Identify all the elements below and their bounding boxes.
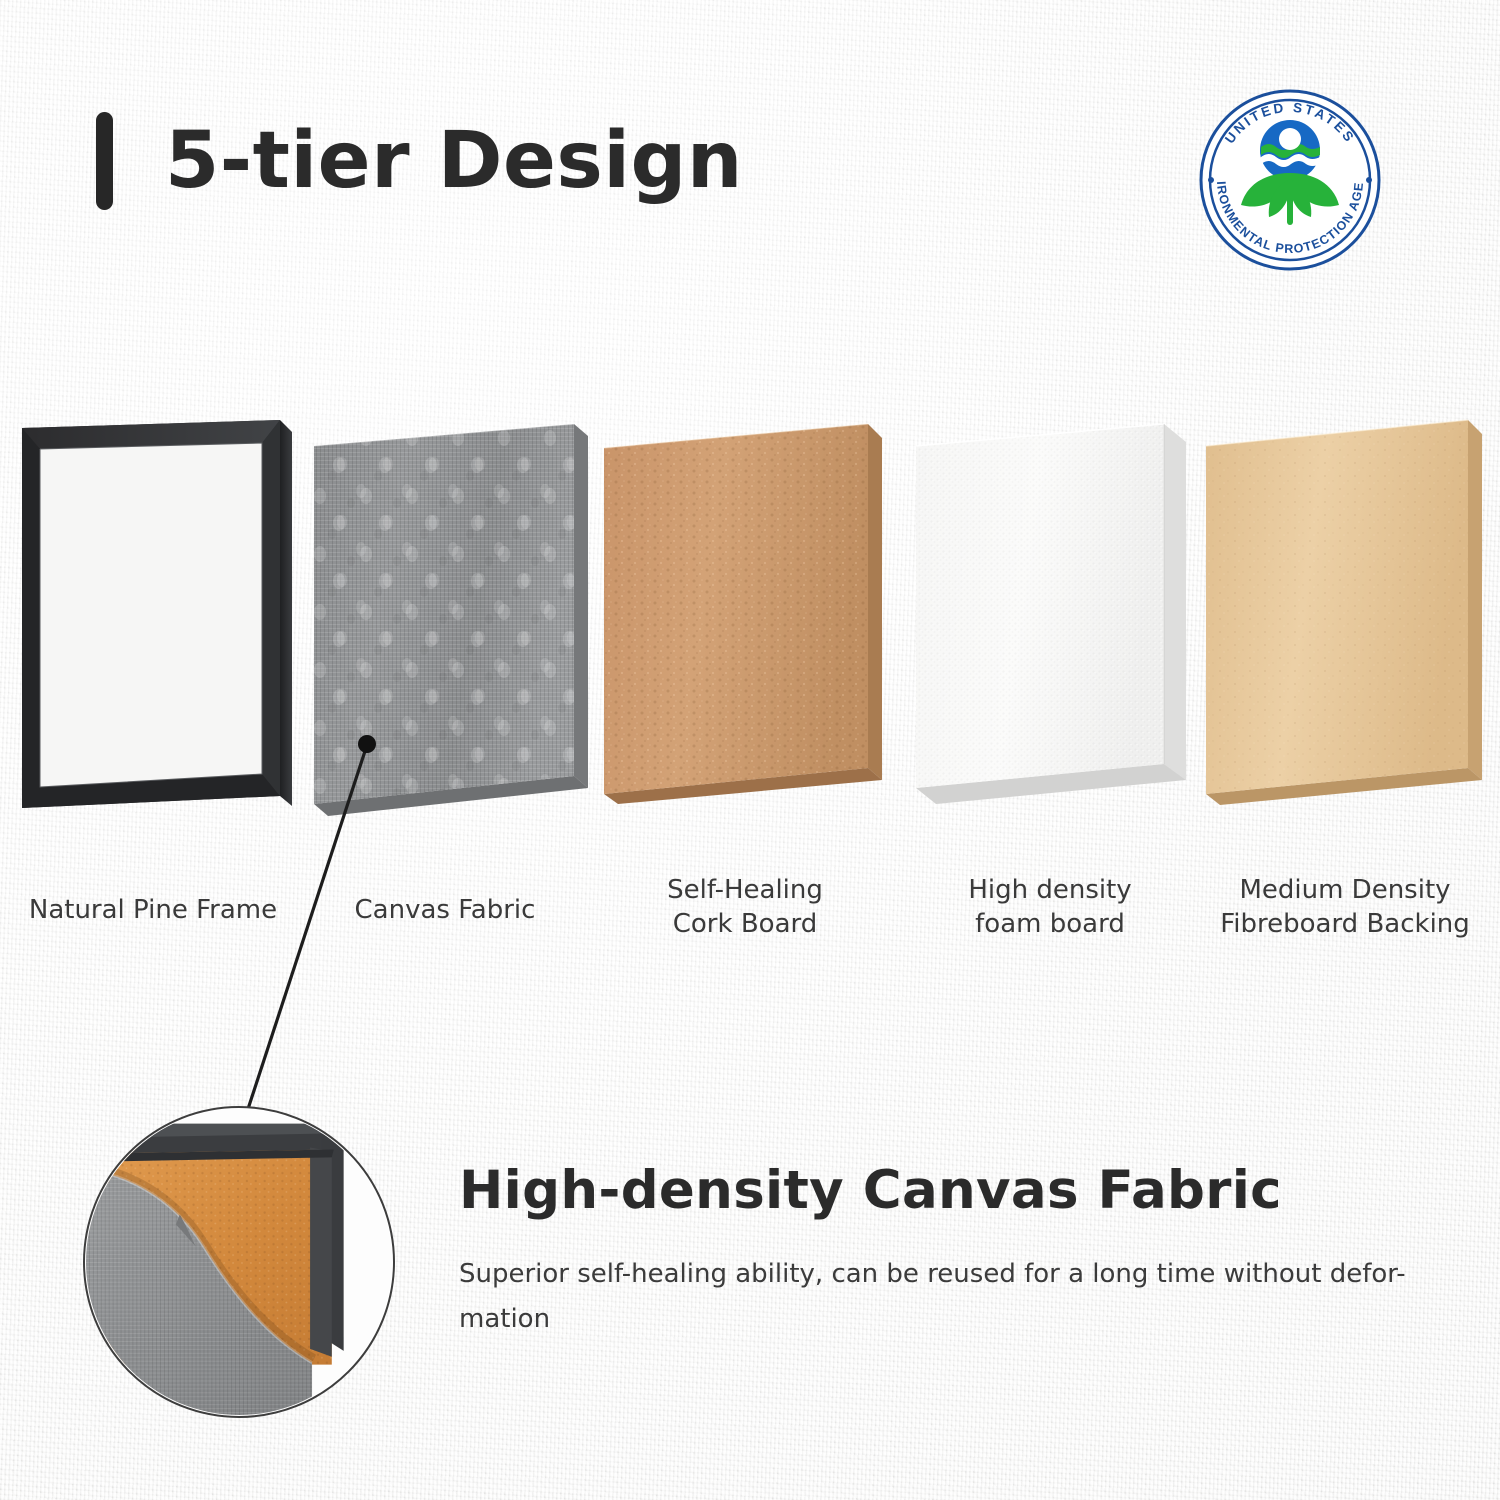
canvas-peel-detail-circle xyxy=(83,1106,395,1418)
feature-text-block: High-density Canvas Fabric Superior self… xyxy=(459,1162,1459,1342)
layer-panel-canvas-fabric xyxy=(308,424,590,814)
page-title: 5-tier Design xyxy=(165,122,743,200)
feature-body-text: Superior self-healing ability, can be re… xyxy=(459,1252,1449,1341)
label-canvas-fabric: Canvas Fabric xyxy=(300,893,590,927)
label-medium-density-fibreboard-backing: Medium Density Fibreboard Backing xyxy=(1195,873,1495,942)
page-header: 5-tier Design xyxy=(96,112,743,210)
title-accent-bar xyxy=(96,112,113,210)
layer-panel-high-density-foam-board xyxy=(912,424,1190,804)
epa-seal-badge: UNITED STATES ENVIRONMENTAL PROTECTION A… xyxy=(1197,87,1383,273)
layer-panel-medium-density-fibreboard-backing xyxy=(1202,420,1486,805)
label-natural-pine-frame: Natural Pine Frame xyxy=(8,893,298,927)
feature-heading: High-density Canvas Fabric xyxy=(459,1162,1459,1219)
product-infographic: 5-tier Design UNITED STATES xyxy=(0,0,1500,1500)
label-self-healing-cork-board: Self-Healing Cork Board xyxy=(600,873,890,942)
layer-panel-self-healing-cork-board xyxy=(600,424,886,804)
layer-panel-natural-pine-frame xyxy=(16,418,296,818)
label-high-density-foam-board: High density foam board xyxy=(905,873,1195,942)
